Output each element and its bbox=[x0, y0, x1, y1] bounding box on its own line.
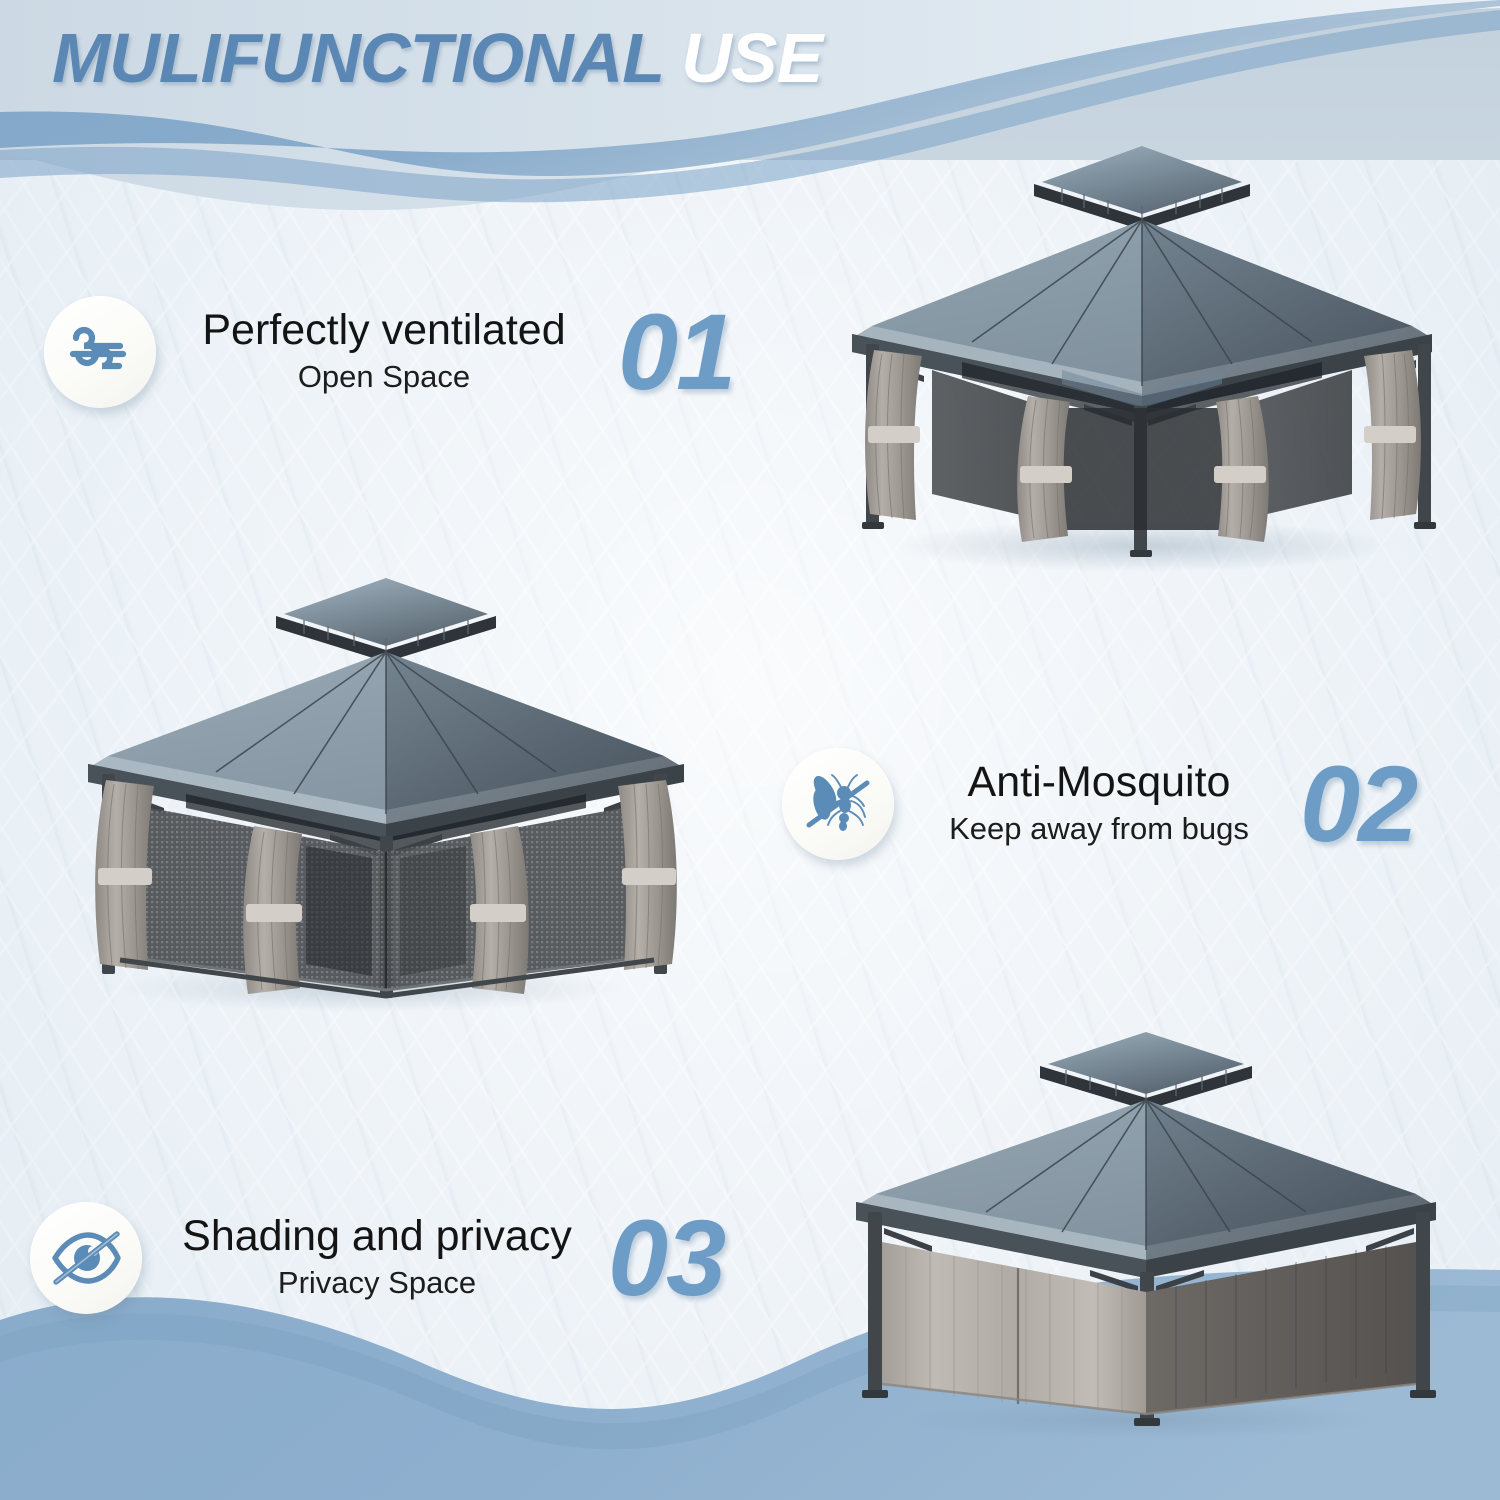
feature-03-subtitle: Privacy Space bbox=[278, 1264, 476, 1303]
feature-03-text: Shading and privacy Privacy Space bbox=[172, 1213, 582, 1302]
feature-01-subtitle: Open Space bbox=[298, 358, 470, 397]
feature-01-badge bbox=[44, 296, 156, 408]
feature-02-title: Anti-Mosquito bbox=[968, 759, 1231, 805]
feature-03-badge bbox=[30, 1202, 142, 1314]
feature-02-text: Anti-Mosquito Keep away from bugs bbox=[934, 759, 1264, 848]
feature-block-03: Shading and privacy Privacy Space 03 bbox=[30, 1202, 724, 1314]
feature-02-subtitle: Keep away from bugs bbox=[949, 810, 1249, 849]
product-image-gazebo-open bbox=[812, 138, 1472, 588]
feature-block-02: Anti-Mosquito Keep away from bugs 02 bbox=[782, 748, 1416, 860]
feature-02-badge bbox=[782, 748, 894, 860]
feature-03-number: 03 bbox=[608, 1204, 724, 1312]
product-image-gazebo-privacy bbox=[796, 1016, 1486, 1446]
page-title: MULIFUNCTIONAL USE bbox=[52, 18, 822, 98]
feature-01-text: Perfectly ventilated Open Space bbox=[184, 307, 584, 396]
wind-icon bbox=[67, 322, 133, 382]
feature-01-number: 01 bbox=[618, 298, 734, 406]
no-mosquito-icon bbox=[803, 771, 873, 837]
title-primary: MULIFUNCTIONAL bbox=[52, 19, 663, 97]
feature-block-01: Perfectly ventilated Open Space 01 bbox=[44, 296, 734, 408]
title-secondary: USE bbox=[681, 19, 822, 97]
feature-03-title: Shading and privacy bbox=[182, 1213, 572, 1259]
infographic-page: MULIFUNCTIONAL USE bbox=[0, 0, 1500, 1500]
feature-02-number: 02 bbox=[1300, 750, 1416, 858]
eye-off-icon bbox=[50, 1229, 122, 1287]
feature-01-title: Perfectly ventilated bbox=[202, 307, 565, 353]
product-image-gazebo-netting bbox=[36, 556, 706, 1026]
